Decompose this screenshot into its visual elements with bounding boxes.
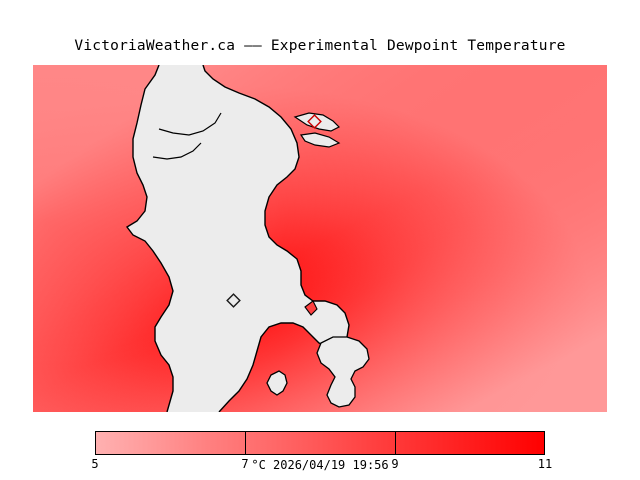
colorbar-caption: °C 2026/04/19 19:56	[0, 458, 640, 472]
colorbar-divider-9	[395, 431, 396, 455]
colorbar[interactable]: 5 7 9 11	[95, 431, 545, 455]
colorbar-gradient	[95, 431, 545, 455]
page-title: VictoriaWeather.ca —— Experimental Dewpo…	[0, 38, 640, 54]
map-plot-area[interactable]	[33, 65, 607, 412]
dewpoint-heatmap[interactable]	[33, 65, 607, 412]
colorbar-divider-7	[245, 431, 246, 455]
weather-map-page: VictoriaWeather.ca —— Experimental Dewpo…	[0, 0, 640, 480]
